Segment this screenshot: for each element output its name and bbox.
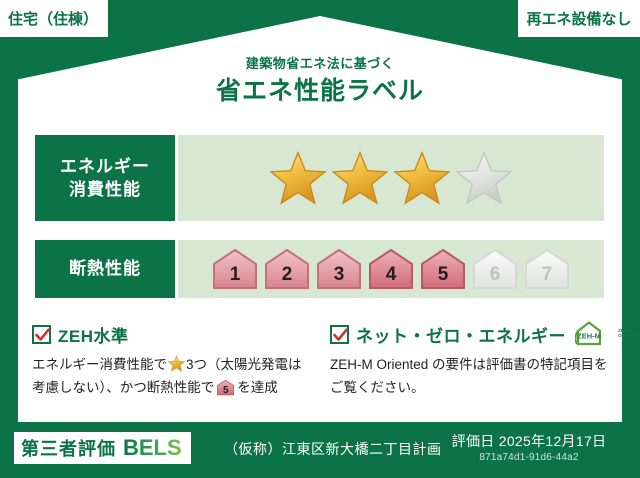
house-badge-icon-empty: 6	[471, 247, 519, 291]
badge-number: 4	[367, 264, 415, 286]
energy-performance-label: 住宅（住棟） 再エネ設備なし 建築物省エネ法に基づく 省エネ性能ラベル エネルギ…	[0, 0, 640, 478]
zeh-m-house-icon: ZEH-M	[575, 320, 617, 348]
star-icon	[394, 151, 450, 205]
house-badge-icon: 5	[215, 379, 236, 396]
building-type-chip: 住宅（住棟）	[0, 0, 108, 37]
bels-jp-label: 第三者評価	[21, 435, 116, 461]
net-zero-energy-section: ネット・ゼロ・エネルギー ZEH-M ZEH-M Oriented ZEH-M …	[330, 322, 612, 399]
badge-number: 1	[211, 264, 259, 286]
zeh-m-logo-sub2: Oriented	[618, 334, 637, 339]
house-badge-icon: 4	[367, 247, 415, 291]
star-icon-empty	[456, 151, 512, 205]
zeh-checkbox[interactable]	[32, 325, 51, 344]
insulation-performance-row: 断熱性能 1 2	[35, 240, 604, 298]
badge-number: 5	[215, 386, 236, 396]
insulation-performance-label: 断熱性能	[35, 240, 175, 298]
zeh-standard-section: ZEH水準 エネルギー消費性能で3つ（太陽光発電は考慮しない）、かつ断熱性能で5…	[32, 322, 314, 399]
net-zero-energy-header: ネット・ゼロ・エネルギー ZEH-M ZEH-M Oriented	[330, 322, 612, 346]
badge-number: 3	[315, 264, 363, 286]
star-icon	[168, 355, 185, 372]
insulation-badge-scale: 1 2 3	[211, 247, 571, 291]
net-zero-energy-title: ネット・ゼロ・エネルギー	[356, 322, 566, 347]
badge-number: 5	[419, 264, 467, 286]
house-badge-icon: 1	[211, 247, 259, 291]
badge-number: 6	[471, 264, 519, 286]
house-badge-icon: 5	[419, 247, 467, 291]
check-icon	[35, 328, 50, 343]
bels-en-label: BELS	[123, 435, 182, 461]
evaluation-date: 評価日 2025年12月17日	[434, 431, 624, 451]
house-badge-icon: 3	[315, 247, 363, 291]
star-rating	[270, 151, 512, 205]
zeh-standard-header: ZEH水準	[32, 322, 314, 346]
insulation-performance-value: 1 2 3	[178, 240, 604, 298]
badge-number: 2	[263, 264, 311, 286]
zeh-standard-title: ZEH水準	[58, 322, 129, 347]
renewable-equipment-chip: 再エネ設備なし	[518, 0, 640, 37]
zeh-standard-description: エネルギー消費性能で3つ（太陽光発電は考慮しない）、かつ断熱性能で5を達成	[32, 353, 314, 399]
net-zero-energy-description: ZEH-M Oriented の要件は評価書の特記項目をご覧ください。	[330, 353, 612, 399]
svg-text:ZEH-M: ZEH-M	[577, 332, 601, 341]
energy-label-line1: エネルギー	[60, 155, 150, 178]
energy-performance-value	[178, 135, 604, 221]
check-icon	[333, 328, 348, 343]
energy-label-line2: 消費性能	[60, 178, 150, 201]
renewable-equipment-label: 再エネ設備なし	[526, 8, 631, 29]
house-badge-icon: 2	[263, 247, 311, 291]
badge-number: 7	[523, 264, 571, 286]
insulation-label-text: 断熱性能	[69, 257, 141, 280]
project-name: （仮称）江東区新大橋二丁目計画	[224, 439, 442, 459]
star-icon	[332, 151, 388, 205]
label-footer: 第三者評価 BELS （仮称）江東区新大橋二丁目計画 評価日 2025年12月1…	[0, 422, 640, 478]
evaluation-id: 871a74d1-91d6-44a2	[434, 452, 624, 463]
bels-certification-chip: 第三者評価 BELS	[14, 432, 191, 464]
building-type-label: 住宅（住棟）	[8, 8, 98, 29]
zeh-desc-part3: を達成	[237, 380, 278, 395]
house-badge-icon-empty: 7	[523, 247, 571, 291]
energy-performance-label: エネルギー 消費性能	[35, 135, 175, 221]
star-icon	[270, 151, 326, 205]
zeh-desc-part1: エネルギー消費性能で	[32, 357, 167, 372]
energy-performance-row: エネルギー 消費性能	[35, 135, 604, 221]
net-zero-checkbox[interactable]	[330, 325, 349, 344]
zeh-m-logo: ZEH-M ZEH-M Oriented	[575, 320, 637, 348]
